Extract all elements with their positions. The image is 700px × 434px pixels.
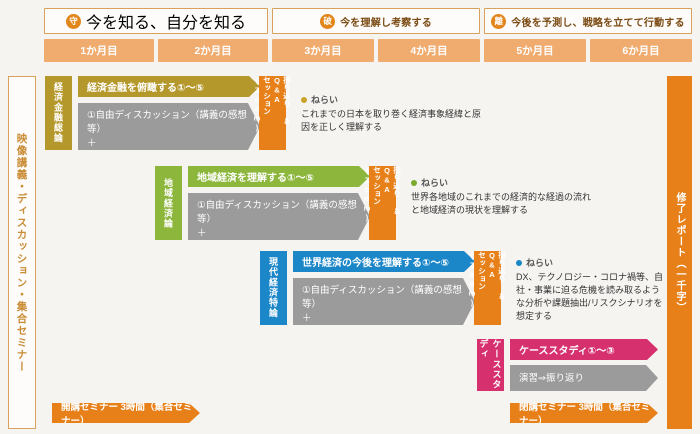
aim-text: 世界各地域のこれまでの経済的な経過の流れと地域経済の現状を理解する <box>411 191 591 217</box>
final-report-label: 修了レポート（一千字） <box>672 192 687 313</box>
final-report-bar: 修了レポート（一千字） <box>667 76 692 429</box>
discussion-line-1: 演習⇒振り返り <box>519 372 658 386</box>
course-label-regional-economy: 地域経済論 <box>155 166 182 240</box>
aim-block-economics-finance: ねらい これまでの日本を取り巻く経済事象経緯と原因を正しく理解する <box>301 93 481 134</box>
course-name: 経済金融総論 <box>52 82 65 143</box>
discussion-box-modern-economy: ①自由ディスカッション（講義の感想等） ＋ ②課題ディスカッション <box>293 278 475 325</box>
course-name: ケーススタディ <box>478 339 504 391</box>
closing-seminar-bar: 閉講セミナー 3時間（集合セミナー） <box>510 403 658 423</box>
zoom-session-bar-1: 振り返り ＆ Q&A セッション(Zoom) <box>259 76 286 150</box>
lecture-arrow-modern-economy: 世界経済の今後を理解する①〜⑤ <box>293 251 475 272</box>
aim-text: これまでの日本を取り巻く経済事象経緯と原因を正しく理解する <box>301 108 481 134</box>
opening-seminar-bar: 開講セミナー 3時間（集合セミナー） <box>52 403 200 423</box>
zoom-session-bar-3: 振り返り ＆ Q&A セッション(Zoom) <box>474 251 501 325</box>
phase-kanji-icon: 離 <box>491 14 506 29</box>
phase-badge-shu: 守 今を知る、自分を知る <box>44 8 268 34</box>
aim-heading: ねらい <box>516 256 666 269</box>
bullet-dot-icon <box>411 180 417 186</box>
discussion-box-economics-finance: ①自由ディスカッション（講義の感想等） ＋ ②課題ディスカッション <box>78 103 260 150</box>
zoom-session-label-line1: 振り返り ＆ Q&A <box>273 76 293 150</box>
month-tab-2: 2か月目 <box>158 39 268 62</box>
zoom-session-label-line1: 振り返り ＆ Q&A <box>488 251 508 325</box>
discussion-line-2: ＋ <box>302 312 475 326</box>
program-timeline-diagram: 守 今を知る、自分を知る 破 今を理解し考察する 離 今後を予測し、戦略を立てて… <box>0 0 700 434</box>
delivery-format-label: 映像講義・ディスカッション・集合セミナー <box>15 133 30 373</box>
phase-badge-ri: 離 今後を予測し、戦略を立てて行動する <box>484 8 692 34</box>
discussion-box-case-study: 演習⇒振り返り <box>510 365 658 391</box>
phase-label: 今を理解し考察する <box>340 14 432 29</box>
month-tab-3: 3か月目 <box>272 39 374 62</box>
course-label-modern-economy: 現代経済特論 <box>260 251 287 325</box>
aim-text: DX、テクノロジー・コロナ禍等、自社・事業に迫る危機を読み取るような分析や課題抽… <box>516 271 666 323</box>
zoom-session-label-line2: セッション(Zoom) <box>468 251 488 325</box>
discussion-line-1: ①自由ディスカッション（講義の感想等） <box>87 109 260 137</box>
zoom-session-label-line2: セッション(Zoom) <box>363 166 383 240</box>
bullet-dot-icon <box>516 260 522 266</box>
discussion-line-3: ②課題ディスカッション <box>87 150 260 164</box>
course-label-case-study: ケーススタディ <box>477 339 504 391</box>
aim-block-modern-economy: ねらい DX、テクノロジー・コロナ禍等、自社・事業に迫る危機を読み取るような分析… <box>516 256 666 323</box>
aim-title: ねらい <box>421 176 448 189</box>
month-tab-4: 4か月目 <box>378 39 480 62</box>
zoom-session-label-line1: 振り返り ＆ Q&A <box>383 166 403 240</box>
phase-label: 今後を予測し、戦略を立てて行動する <box>511 14 684 29</box>
month-tab-5: 5か月目 <box>484 39 586 62</box>
aim-heading: ねらい <box>301 93 481 106</box>
course-name: 地域経済論 <box>162 178 175 229</box>
phase-label: 今を知る、自分を知る <box>86 9 246 33</box>
phase-kanji-icon: 守 <box>66 14 81 29</box>
phase-badge-ha: 破 今を理解し考察する <box>272 8 480 34</box>
course-name: 現代経済特論 <box>267 257 280 318</box>
discussion-line-3: ②課題ディスカッション <box>302 325 475 339</box>
month-tab-1: 1か月目 <box>44 39 154 62</box>
discussion-line-2: ＋ <box>197 227 370 241</box>
bullet-dot-icon <box>301 97 307 103</box>
lecture-arrow-case-study: ケーススタディ①〜③ <box>510 339 658 360</box>
discussion-line-1: ①自由ディスカッション（講義の感想等） <box>302 284 475 312</box>
aim-title: ねらい <box>526 256 553 269</box>
aim-heading: ねらい <box>411 176 591 189</box>
aim-block-regional-economy: ねらい 世界各地域のこれまでの経済的な経過の流れと地域経済の現状を理解する <box>411 176 591 217</box>
lecture-arrow-regional-economy: 地域経済を理解する①〜⑤ <box>188 166 370 187</box>
zoom-session-bar-2: 振り返り ＆ Q&A セッション(Zoom) <box>369 166 396 240</box>
month-tab-6: 6か月目 <box>590 39 692 62</box>
discussion-line-2: ＋ <box>87 137 260 151</box>
zoom-session-label-line2: セッション(Zoom) <box>253 76 273 150</box>
lecture-arrow-economics-finance: 経済金融を俯瞰する①〜⑤ <box>78 76 260 97</box>
discussion-line-1: ①自由ディスカッション（講義の感想等） <box>197 199 370 227</box>
discussion-box-regional-economy: ①自由ディスカッション（講義の感想等） ＋ ②課題ディスカッション <box>188 193 370 240</box>
delivery-format-panel: 映像講義・ディスカッション・集合セミナー <box>8 76 36 429</box>
phase-kanji-icon: 破 <box>320 14 335 29</box>
aim-title: ねらい <box>311 93 338 106</box>
course-label-economics-finance: 経済金融総論 <box>45 76 72 150</box>
